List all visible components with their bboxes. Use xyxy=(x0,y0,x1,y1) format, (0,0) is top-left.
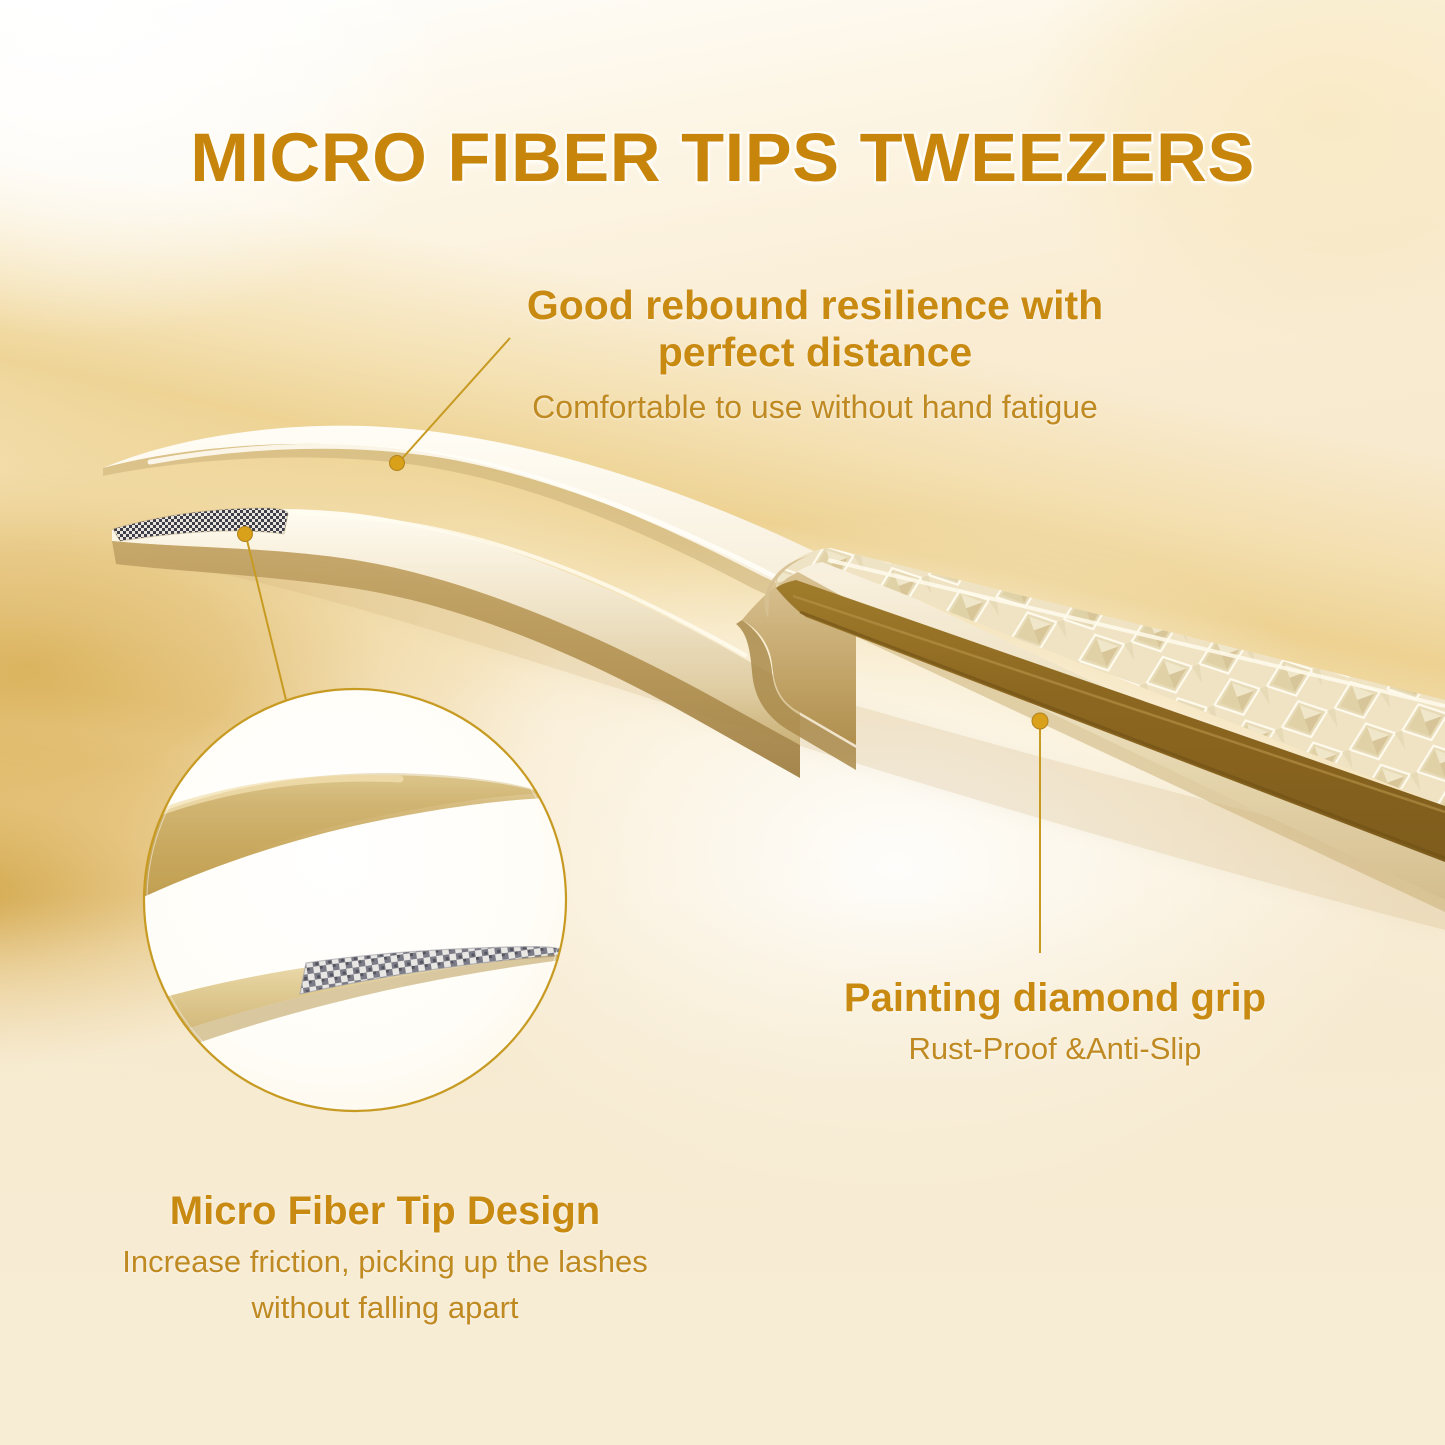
callout-tip-subtext-line2: without falling apart xyxy=(55,1288,715,1327)
product-infographic: MICRO FIBER TIPS TWEEZERS Good rebound r… xyxy=(0,0,1445,1445)
callout-rebound-heading-line2: perfect distance xyxy=(455,329,1175,376)
callout-grip: Painting diamond grip Rust-Proof &Anti-S… xyxy=(745,975,1365,1068)
page-title: MICRO FIBER TIPS TWEEZERS xyxy=(0,118,1445,197)
callout-rebound-heading-line1: Good rebound resilience with xyxy=(455,282,1175,329)
callout-tip-heading: Micro Fiber Tip Design xyxy=(55,1188,715,1235)
callout-rebound: Good rebound resilience with perfect dis… xyxy=(455,282,1175,427)
magnifier-circle xyxy=(20,689,566,1111)
callout-grip-heading: Painting diamond grip xyxy=(745,975,1365,1022)
callout-rebound-subtext: Comfortable to use without hand fatigue xyxy=(455,387,1175,427)
callout-grip-subtext: Rust-Proof &Anti-Slip xyxy=(745,1029,1365,1068)
callout-tip: Micro Fiber Tip Design Increase friction… xyxy=(55,1188,715,1327)
callout-tip-subtext-line1: Increase friction, picking up the lashes xyxy=(55,1242,715,1281)
callout-leader-grip xyxy=(1032,713,1048,953)
